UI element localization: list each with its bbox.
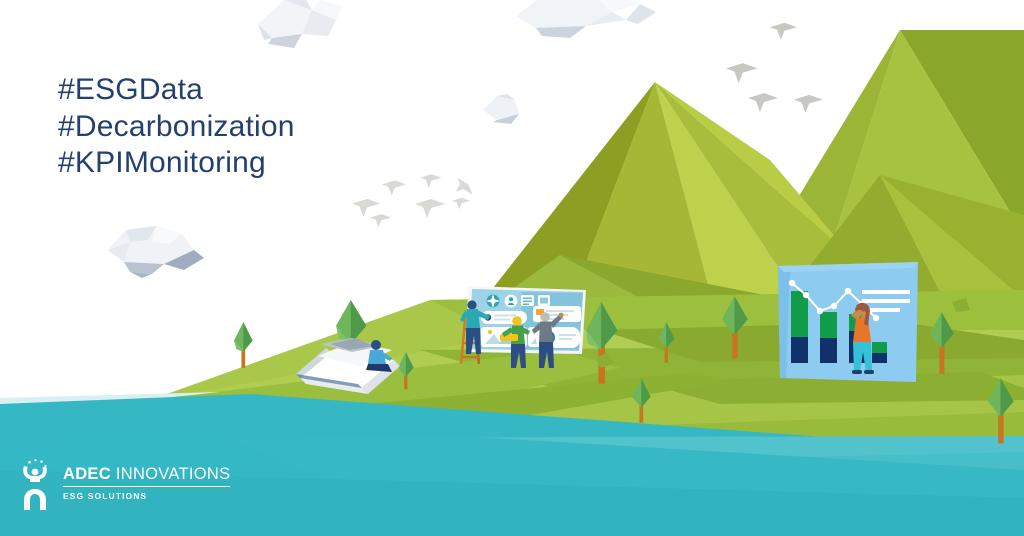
bar-4-base	[872, 353, 887, 363]
bar-1-base	[791, 337, 808, 363]
page-title: #ESGData #Decarbonization #KPIMonitoring	[58, 72, 295, 182]
logo-brand-bold: ADEC	[63, 465, 111, 483]
illustration-banner: #ESGData #Decarbonization #KPIMonitoring…	[0, 0, 1024, 536]
board-text-line-2	[862, 299, 910, 303]
logo-wordmark: ADEC INNOVATIONS ESG SOLUTIONS	[63, 458, 230, 501]
hashtag-line-2: #Decarbonization	[58, 109, 295, 146]
hashtag-line-3: #KPIMonitoring	[58, 145, 295, 182]
bar-2-top	[820, 312, 837, 338]
adec-person-star-mark	[18, 458, 54, 510]
logo-tagline: ESG SOLUTIONS	[63, 491, 230, 501]
brand-logo[interactable]: ADEC INNOVATIONS ESG SOLUTIONS	[18, 458, 230, 510]
board-text-line-1	[862, 290, 910, 294]
logo-brand-light: INNOVATIONS	[116, 465, 231, 483]
kpi-dashboard-board	[778, 262, 918, 382]
hashtag-line-1: #ESGData	[58, 72, 295, 109]
bar-2-base	[820, 338, 837, 363]
bar-4-top	[872, 342, 887, 353]
